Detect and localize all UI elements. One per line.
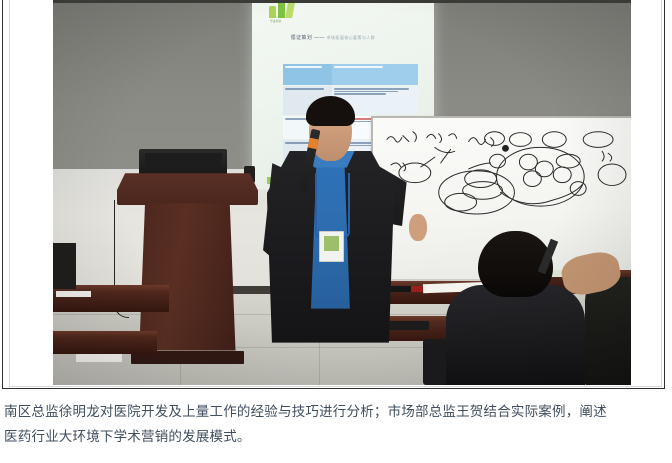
desk-left-front	[53, 331, 157, 354]
photo-top-rule	[53, 0, 631, 3]
photo-frame: 华森制药 循证策划 —— 市场拓展核心要素与人群	[2, 0, 665, 389]
company-logo-label: 华森制药	[270, 19, 282, 23]
audience-body	[446, 285, 585, 385]
article-page: 华森制药 循证策划 —— 市场拓展核心要素与人群	[0, 0, 672, 463]
slide-table-header-cell	[332, 64, 418, 85]
article-caption: 南区总监徐明龙对医院开发及上量工作的经验与技巧进行分析；市场部总监王贺结合实际案…	[4, 400, 668, 450]
slide-subtitle: 市场拓展核心要素与人群	[327, 35, 375, 40]
presenter-id-badge	[319, 231, 344, 262]
company-logo-icon: 华森制药	[269, 2, 302, 23]
audience-member-front	[446, 231, 585, 385]
slide-table-header-row	[283, 64, 418, 85]
audience-body	[585, 277, 631, 385]
desk-left	[53, 285, 169, 312]
presenter-hand	[409, 214, 427, 241]
presenter	[267, 100, 394, 343]
presenter-hair	[306, 96, 354, 125]
slide-title-main: 循证策划 ——	[291, 35, 325, 41]
speaker-box	[53, 243, 76, 289]
slide-table-header-cell	[283, 64, 331, 85]
slide-title: 循证策划 —— 市场拓展核心要素与人群	[291, 34, 375, 41]
presenter-lanyard	[315, 173, 350, 238]
marker-pen	[411, 286, 423, 292]
podium-top	[117, 173, 259, 205]
caption-line-1: 南区总监徐明龙对医院开发及上量工作的经验与技巧进行分析；市场部总监王贺结合实际案…	[4, 400, 668, 425]
caption-line-2: 医药行业大环境下学术营销的发展模式。	[4, 425, 668, 450]
podium-body	[139, 203, 235, 350]
laptop-screen	[145, 153, 222, 170]
meeting-photo: 华森制药 循证策划 —— 市场拓展核心要素与人群	[53, 0, 631, 385]
desk-paper	[56, 291, 91, 297]
desk-paper	[76, 354, 122, 362]
smartphone	[388, 321, 428, 329]
laptop	[139, 149, 227, 177]
